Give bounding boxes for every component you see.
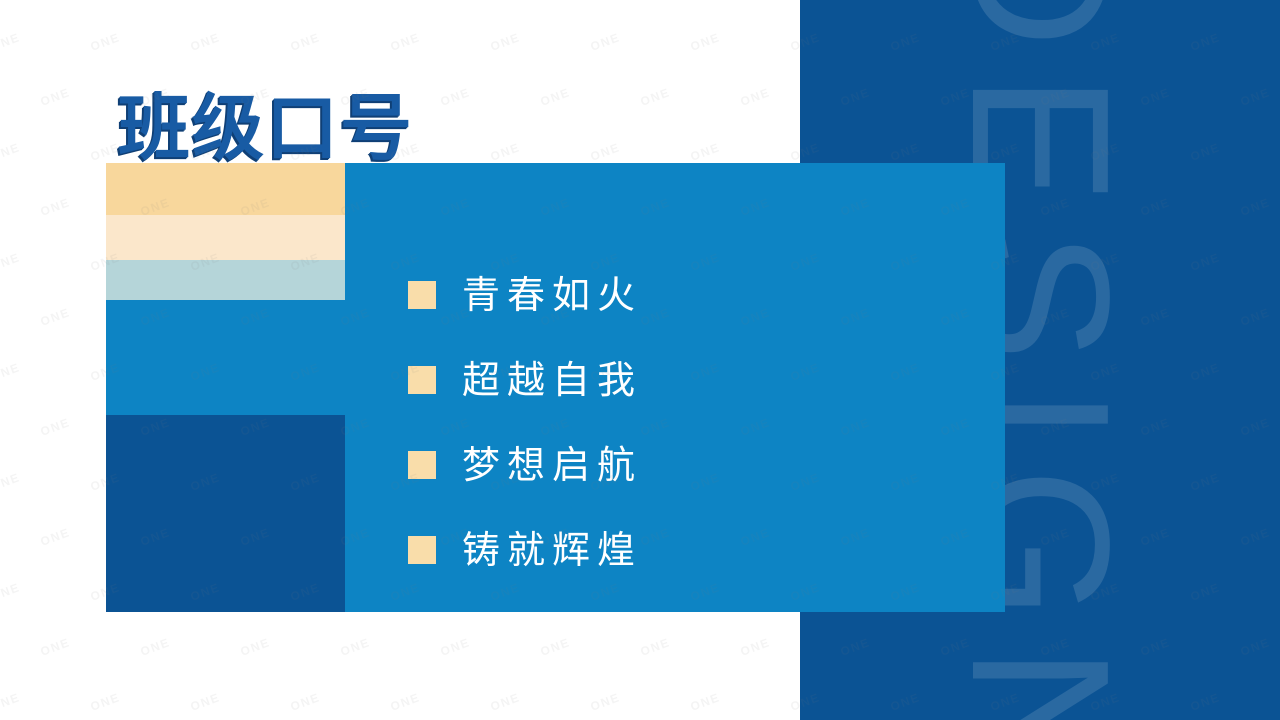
square-bullet-icon bbox=[408, 536, 436, 564]
watermark-text: ONE bbox=[539, 635, 572, 659]
slogan-list: 青春如火 超越自我 梦想启航 铸就辉煌 bbox=[408, 252, 642, 592]
watermark-text: ONE bbox=[0, 470, 22, 494]
watermark-text: ONE bbox=[489, 30, 522, 54]
slogan-label: 青春如火 bbox=[462, 276, 642, 314]
watermark-text: ONE bbox=[0, 250, 22, 274]
square-bullet-icon bbox=[408, 366, 436, 394]
watermark-text: ONE bbox=[489, 140, 522, 164]
color-band-navy bbox=[106, 415, 346, 612]
watermark-text: ONE bbox=[389, 30, 422, 54]
watermark-text: ONE bbox=[189, 30, 222, 54]
watermark-text: ONE bbox=[39, 85, 72, 109]
watermark-text: ONE bbox=[189, 690, 222, 714]
watermark-text: ONE bbox=[0, 140, 22, 164]
square-bullet-icon bbox=[408, 281, 436, 309]
watermark-text: ONE bbox=[539, 85, 572, 109]
slogan-label: 梦想启航 bbox=[462, 446, 642, 484]
watermark-text: ONE bbox=[39, 415, 72, 439]
watermark-text: ONE bbox=[589, 30, 622, 54]
color-band-teal bbox=[106, 260, 346, 300]
watermark-text: ONE bbox=[39, 195, 72, 219]
watermark-text: ONE bbox=[439, 635, 472, 659]
watermark-text: ONE bbox=[89, 690, 122, 714]
list-item[interactable]: 铸就辉煌 bbox=[408, 507, 642, 592]
watermark-text: ONE bbox=[89, 140, 122, 164]
watermark-text: ONE bbox=[389, 690, 422, 714]
watermark-text: ONE bbox=[39, 305, 72, 329]
watermark-text: ONE bbox=[89, 30, 122, 54]
color-band-cream bbox=[106, 215, 346, 260]
watermark-text: ONE bbox=[639, 635, 672, 659]
watermark-text: ONE bbox=[589, 690, 622, 714]
list-item[interactable]: 超越自我 bbox=[408, 337, 642, 422]
slide-canvas: DESIGN 班级口号 青春如火 超越自我 梦想启航 铸就辉煌 ONEONEON… bbox=[0, 0, 1280, 720]
watermark-text: ONE bbox=[689, 30, 722, 54]
color-band-blue bbox=[106, 300, 346, 415]
watermark-text: ONE bbox=[289, 30, 322, 54]
slogan-label: 铸就辉煌 bbox=[462, 531, 642, 569]
watermark-text: ONE bbox=[0, 30, 22, 54]
color-band-orange bbox=[106, 163, 346, 215]
watermark-text: ONE bbox=[639, 85, 672, 109]
watermark-text: ONE bbox=[739, 635, 772, 659]
watermark-text: ONE bbox=[139, 635, 172, 659]
watermark-text: ONE bbox=[0, 360, 22, 384]
watermark-text: ONE bbox=[339, 635, 372, 659]
watermark-text: ONE bbox=[289, 690, 322, 714]
slogan-label: 超越自我 bbox=[462, 361, 642, 399]
watermark-text: ONE bbox=[689, 140, 722, 164]
list-item[interactable]: 梦想启航 bbox=[408, 422, 642, 507]
watermark-text: ONE bbox=[39, 525, 72, 549]
watermark-text: ONE bbox=[589, 140, 622, 164]
square-bullet-icon bbox=[408, 451, 436, 479]
list-item[interactable]: 青春如火 bbox=[408, 252, 642, 337]
watermark-text: ONE bbox=[439, 85, 472, 109]
watermark-text: ONE bbox=[39, 635, 72, 659]
watermark-text: ONE bbox=[0, 690, 22, 714]
watermark-text: ONE bbox=[739, 85, 772, 109]
watermark-text: ONE bbox=[239, 635, 272, 659]
watermark-text: ONE bbox=[489, 690, 522, 714]
watermark-text: ONE bbox=[0, 580, 22, 604]
page-title: 班级口号 bbox=[118, 92, 414, 164]
watermark-text: ONE bbox=[689, 690, 722, 714]
